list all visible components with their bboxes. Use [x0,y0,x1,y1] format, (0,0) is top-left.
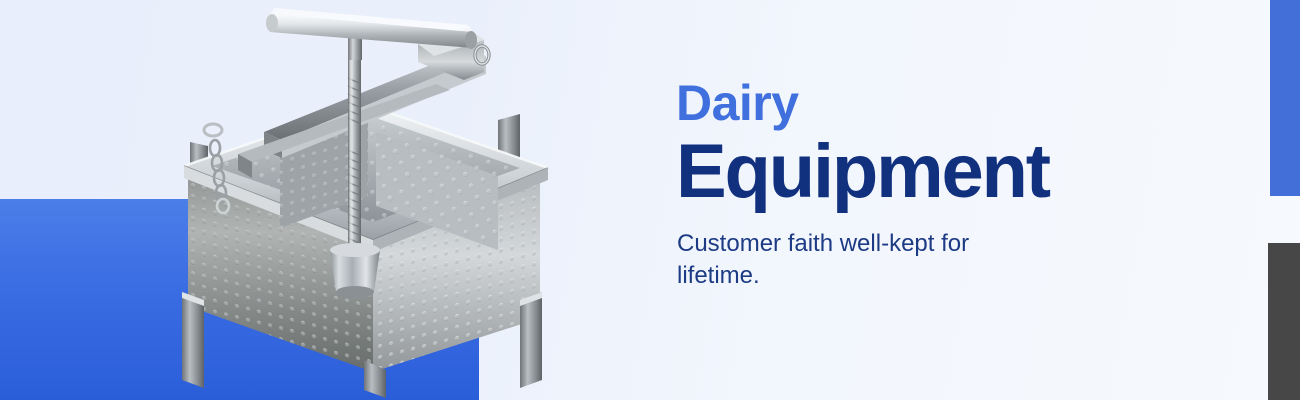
banner-eyebrow: Dairy [676,78,1256,128]
blue-bar-top-right [1270,0,1300,196]
product-image-cheese-press [168,0,588,400]
banner-headline: Equipment [676,134,1256,210]
banner-subtitle: Customer faith well-kept for lifetime. [677,228,1027,291]
banner-copy: Dairy Equipment Customer faith well-kept… [676,78,1256,291]
dark-bar-bottom-right [1268,243,1300,400]
dairy-equipment-banner: Dairy Equipment Customer faith well-kept… [0,0,1300,400]
